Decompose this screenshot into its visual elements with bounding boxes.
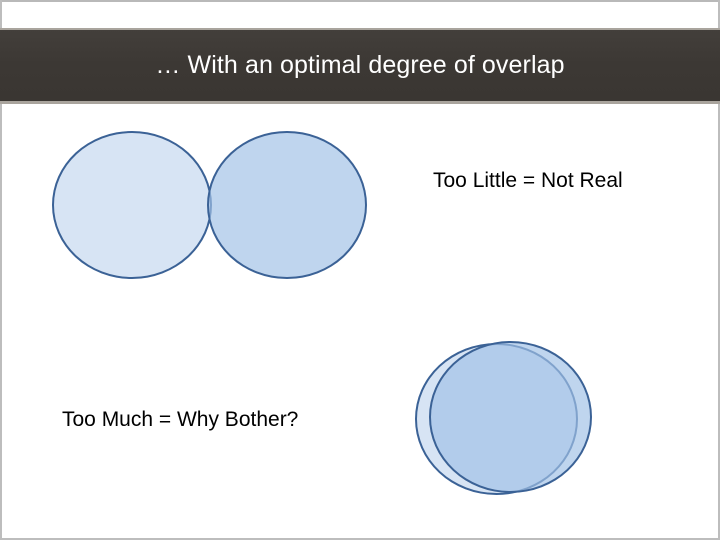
too-little-left-circle	[52, 131, 212, 279]
caption-too-little: Too Little = Not Real	[433, 168, 623, 193]
slide-canvas: … With an optimal degree of overlap Too …	[0, 0, 720, 540]
diagram-shapes-layer	[0, 0, 720, 540]
caption-too-much: Too Much = Why Bother?	[62, 407, 298, 432]
too-much-front-circle	[429, 341, 592, 493]
too-little-right-circle	[207, 131, 367, 279]
